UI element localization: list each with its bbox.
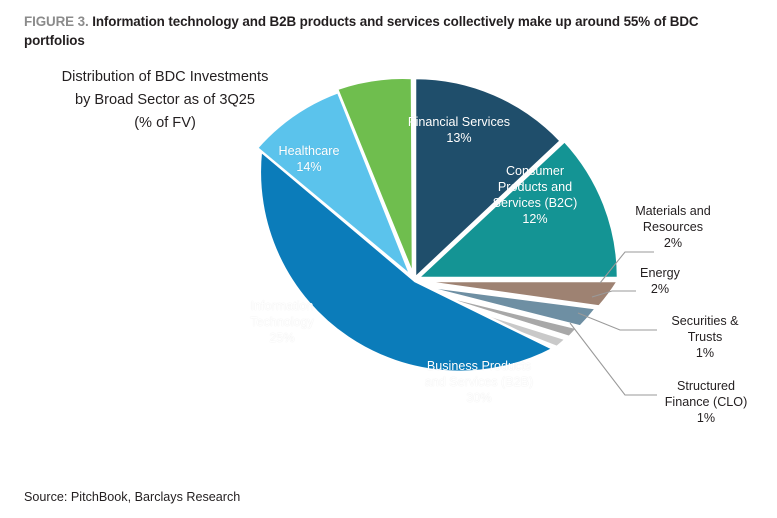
slice-label-information-technology: Information Technology 25% [212,298,352,346]
figure-page: FIGURE 3. Information technology and B2B… [0,0,777,518]
slice-label-financial-services: Financial Services 13% [398,114,520,146]
source-note: Source: PitchBook, Barclays Research [24,490,240,504]
slice-label-business-products-b2b: Business Products and Services (B2B) 30% [390,358,568,406]
leader-line-structured [570,323,657,395]
callout-label-materials-resources: Materials and Resources 2% [614,203,732,251]
callout-label-energy: Energy 2% [618,265,702,297]
callout-label-structured-finance-clo: Structured Finance (CLO) 1% [645,378,767,426]
slice-label-consumer-products-b2c: Consumer Products and Services (B2C) 12% [482,163,588,227]
callout-label-securities-trusts: Securities & Trusts 1% [650,313,760,361]
pie-chart: Distribution of BDC Investments by Broad… [0,0,777,480]
slice-label-healthcare: Healthcare 14% [248,143,370,175]
